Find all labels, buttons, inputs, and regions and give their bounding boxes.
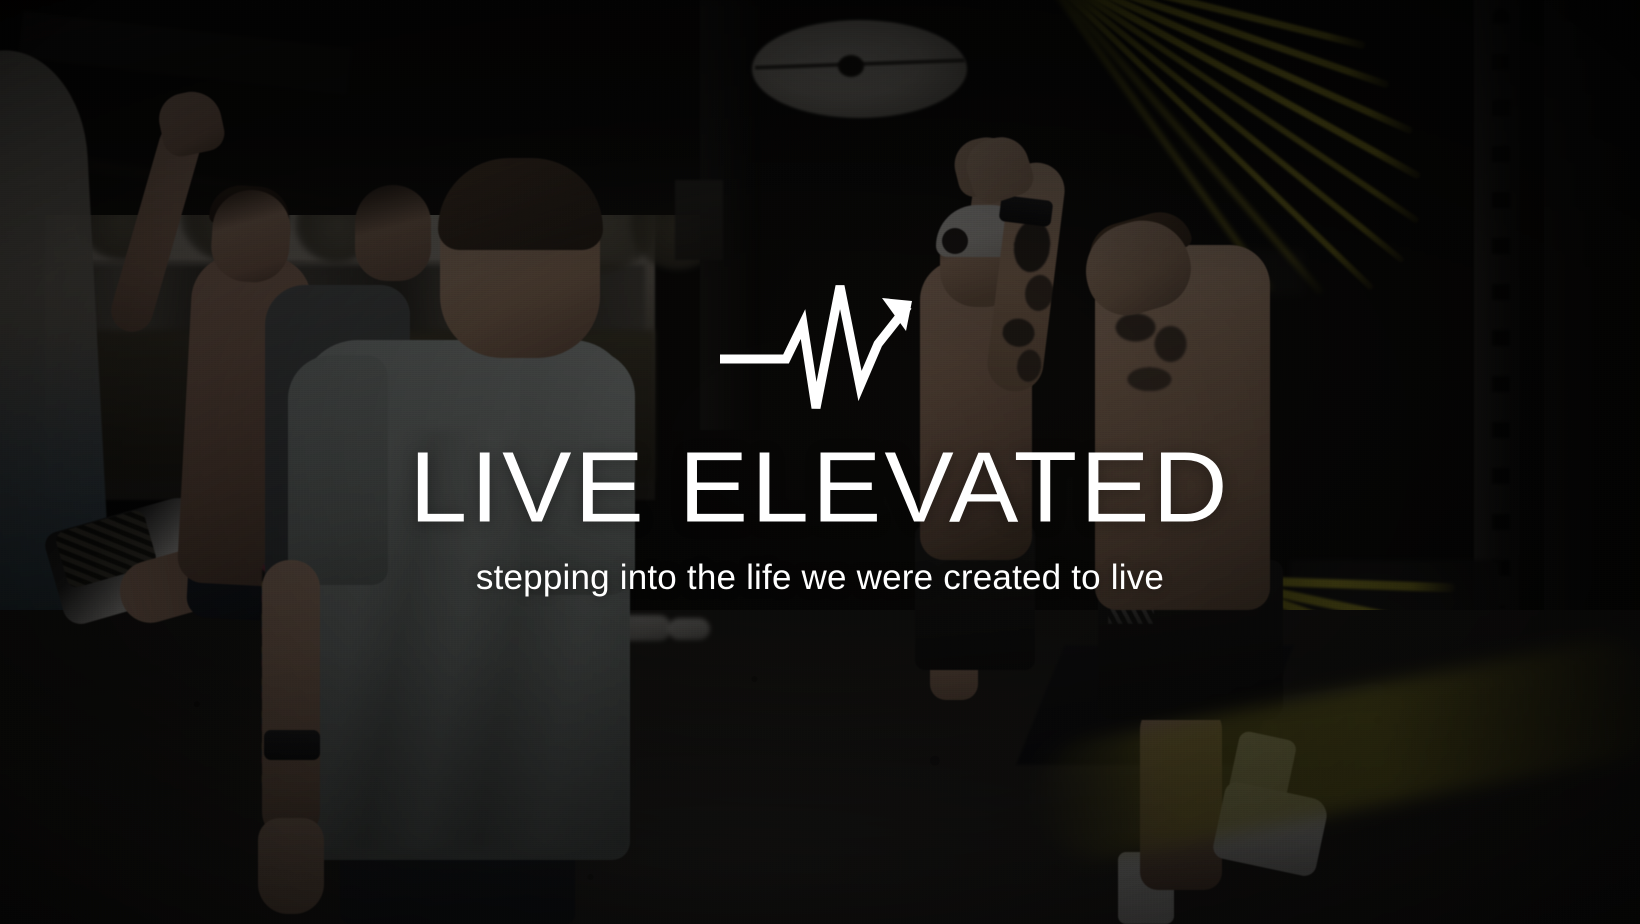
hero-banner: ATE. bbox=[0, 0, 1640, 924]
page-title: LIVE ELEVATED bbox=[409, 438, 1230, 538]
heartbeat-arrow-icon bbox=[718, 282, 923, 410]
hero-content: LIVE ELEVATED stepping into the life we … bbox=[0, 0, 1640, 924]
hero-tagline: stepping into the life we were created t… bbox=[476, 558, 1164, 598]
